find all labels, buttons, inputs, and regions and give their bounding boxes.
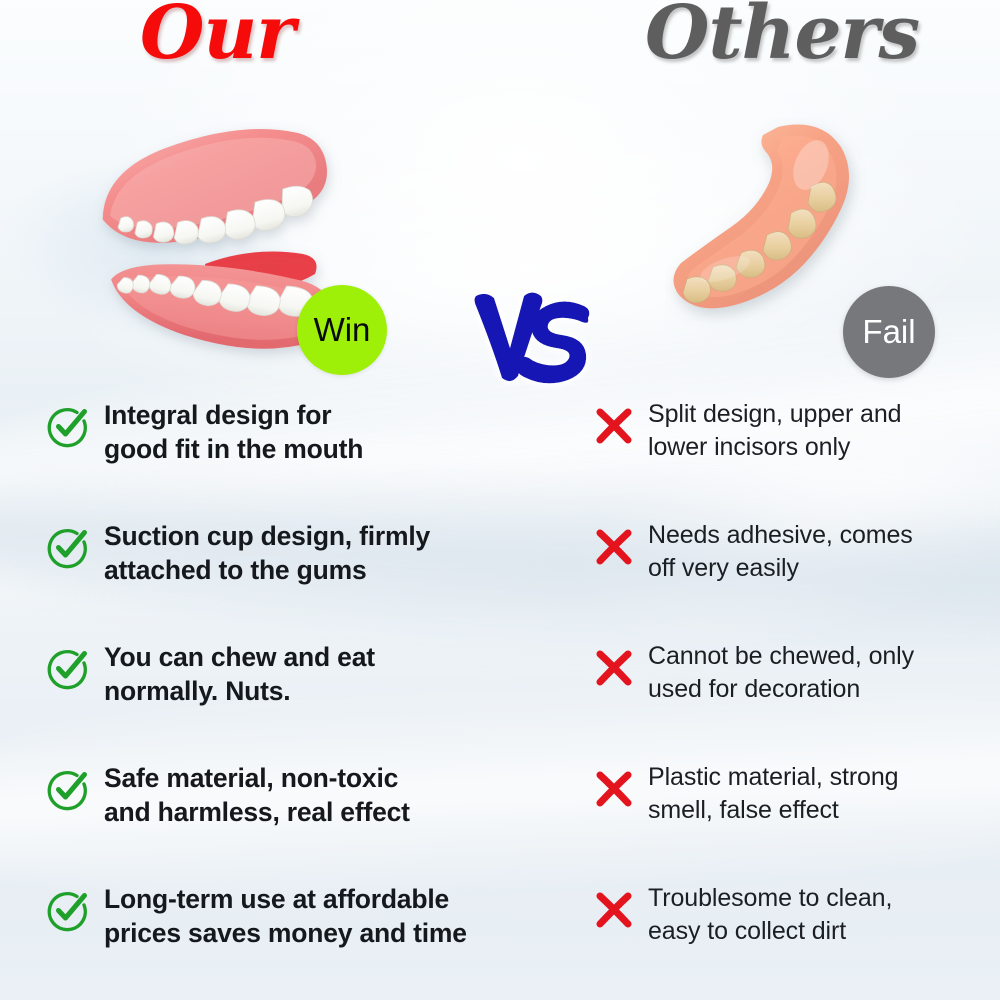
pro-item: Suction cup design, firmly attached to t… (46, 517, 546, 588)
pro-text: Integral design for good fit in the mout… (104, 396, 363, 467)
pro-item: Integral design for good fit in the mout… (46, 396, 546, 467)
check-circle-icon (46, 767, 90, 811)
con-text: Split design, upper and lower incisors o… (648, 396, 901, 463)
header-title-others: Others (645, 0, 919, 70)
con-item: Troublesome to clean, easy to collect di… (592, 880, 992, 947)
con-text: Plastic material, strong smell, false ef… (648, 759, 898, 826)
pro-text: Suction cup design, firmly attached to t… (104, 517, 430, 588)
win-badge: Win (297, 285, 387, 375)
con-item: Plastic material, strong smell, false ef… (592, 759, 992, 826)
con-item: Split design, upper and lower incisors o… (592, 396, 992, 463)
con-text: Troublesome to clean, easy to collect di… (648, 880, 892, 947)
pro-text: Safe material, non-toxic and harmless, r… (104, 759, 410, 830)
pro-item: Safe material, non-toxic and harmless, r… (46, 759, 546, 830)
comparison-row: Long-term use at affordable prices saves… (0, 880, 1000, 1000)
check-circle-icon (46, 646, 90, 690)
pro-text: You can chew and eat normally. Nuts. (104, 638, 375, 709)
header-title-our: Our (140, 0, 294, 70)
pro-text: Long-term use at affordable prices saves… (104, 880, 467, 951)
comparison-row: Integral design for good fit in the mout… (0, 396, 1000, 517)
pro-item: You can chew and eat normally. Nuts. (46, 638, 546, 709)
cross-icon (592, 525, 636, 569)
cross-icon (592, 646, 636, 690)
cross-icon (592, 404, 636, 448)
vs-mark (470, 288, 600, 398)
cross-icon (592, 888, 636, 932)
cross-icon (592, 767, 636, 811)
header-row: Our Others (0, 0, 1000, 92)
check-circle-icon (46, 525, 90, 569)
comparison-row: Suction cup design, firmly attached to t… (0, 517, 1000, 638)
comparison-infographic: Our Others (0, 0, 1000, 1000)
check-circle-icon (46, 888, 90, 932)
hero-section: Win Fail (0, 92, 1000, 392)
comparison-rows: Integral design for good fit in the mout… (0, 396, 1000, 1000)
pro-item: Long-term use at affordable prices saves… (46, 880, 546, 951)
comparison-row: You can chew and eat normally. Nuts. Can… (0, 638, 1000, 759)
con-item: Cannot be chewed, only used for decorati… (592, 638, 992, 705)
comparison-row: Safe material, non-toxic and harmless, r… (0, 759, 1000, 880)
fail-badge: Fail (843, 286, 935, 378)
con-text: Cannot be chewed, only used for decorati… (648, 638, 914, 705)
con-item: Needs adhesive, comes off very easily (592, 517, 992, 584)
check-circle-icon (46, 404, 90, 448)
con-text: Needs adhesive, comes off very easily (648, 517, 913, 584)
